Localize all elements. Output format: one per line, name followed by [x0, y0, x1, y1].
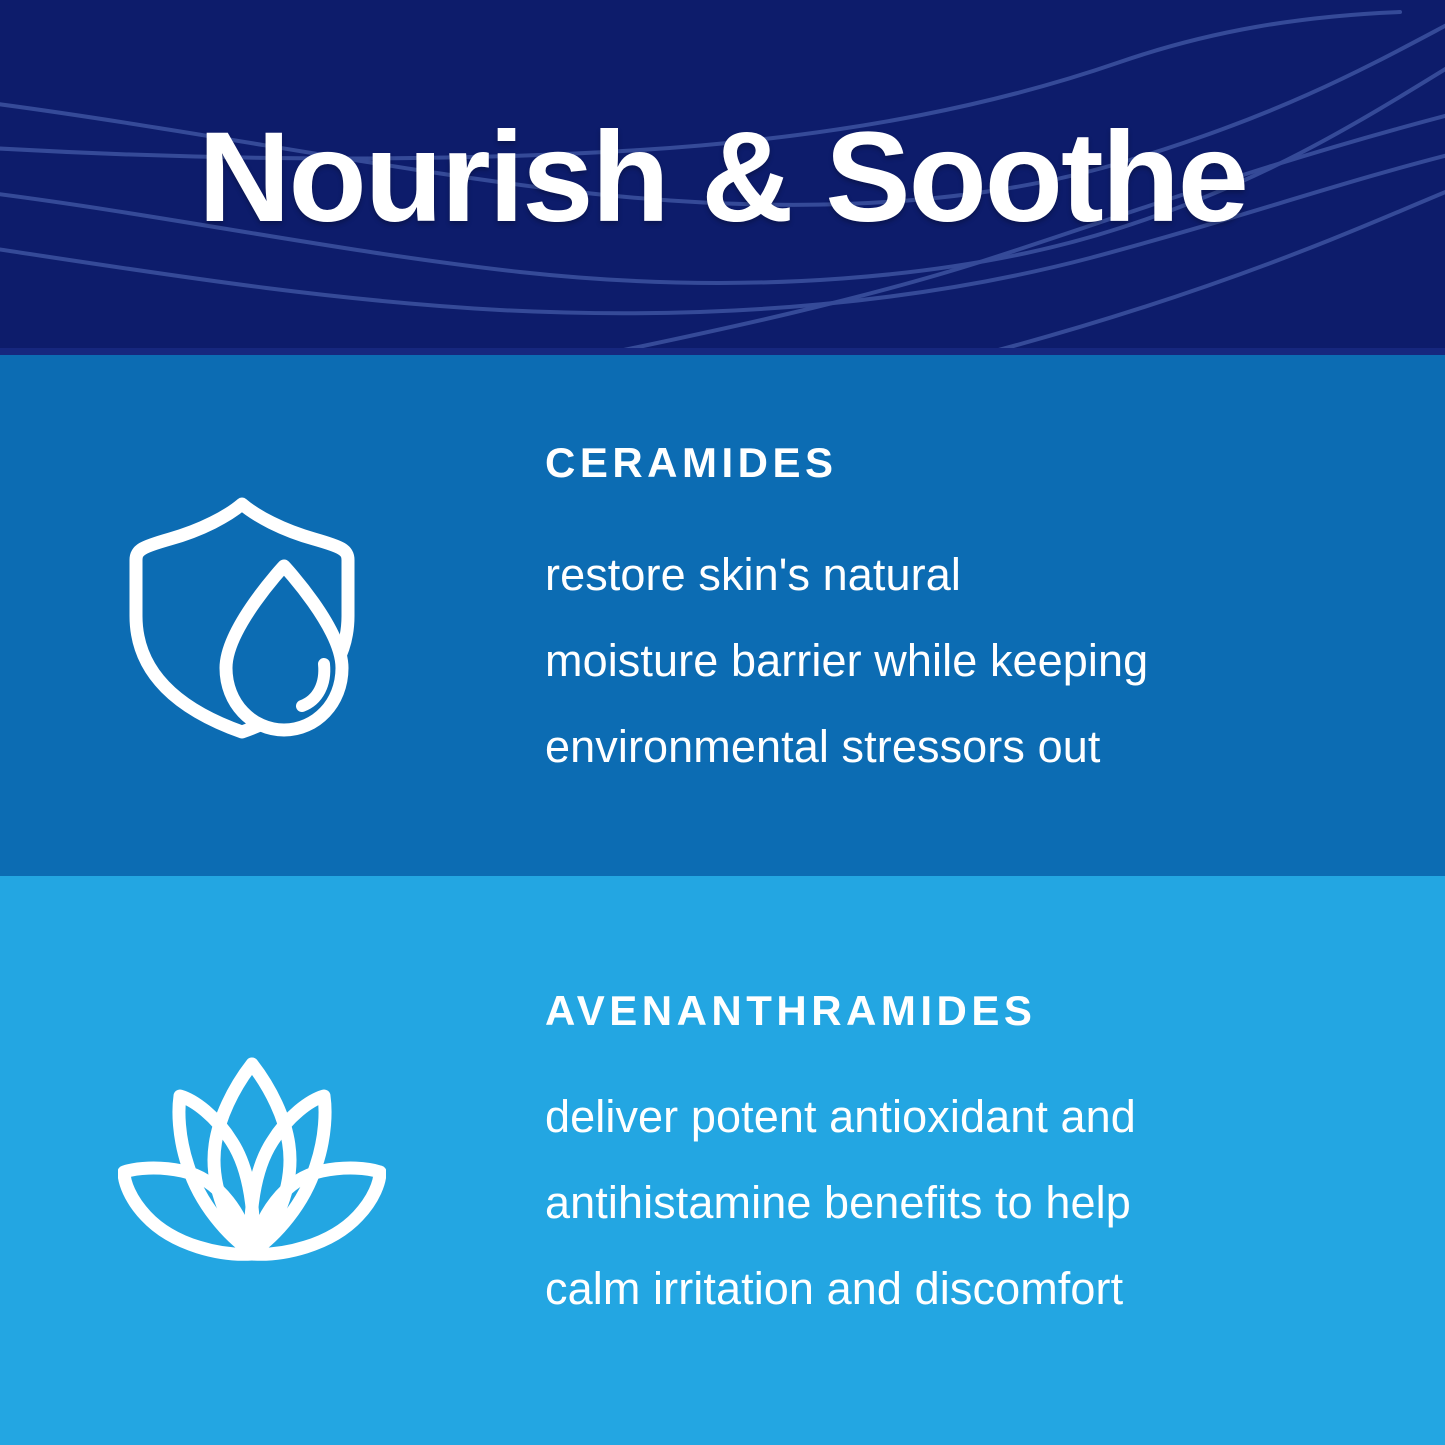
ceramides-heading: CERAMIDES	[545, 442, 1325, 484]
page-title: Nourish & Soothe	[0, 0, 1445, 355]
avenanthramides-text-cell: AVENANTHRAMIDES deliver potent antioxida…	[545, 990, 1445, 1332]
section-avenanthramides: AVENANTHRAMIDES deliver potent antioxida…	[0, 876, 1445, 1445]
avenanthramides-icon-cell	[0, 1056, 545, 1266]
avenanthramides-body-line-2: antihistamine benefits to help	[545, 1160, 1325, 1246]
ceramides-body-line-3: environmental stressors out	[545, 704, 1325, 790]
ceramides-body-line-1: restore skin's natural	[545, 532, 1325, 618]
shield-droplet-icon	[118, 492, 366, 740]
ceramides-body-line-2: moisture barrier while keeping	[545, 618, 1325, 704]
ceramides-icon-cell	[0, 492, 545, 740]
avenanthramides-body-line-3: calm irritation and discomfort	[545, 1246, 1325, 1332]
avenanthramides-body-line-1: deliver potent antioxidant and	[545, 1074, 1325, 1160]
section-ceramides: CERAMIDES restore skin's natural moistur…	[0, 355, 1445, 876]
ceramides-text-cell: CERAMIDES restore skin's natural moistur…	[545, 442, 1445, 790]
ingredient-benefits-poster: Nourish & Soothe CERAMIDES restore skin'…	[0, 0, 1445, 1445]
lotus-flower-icon	[118, 1056, 386, 1266]
avenanthramides-heading: AVENANTHRAMIDES	[545, 990, 1325, 1032]
header-banner: Nourish & Soothe	[0, 0, 1445, 355]
